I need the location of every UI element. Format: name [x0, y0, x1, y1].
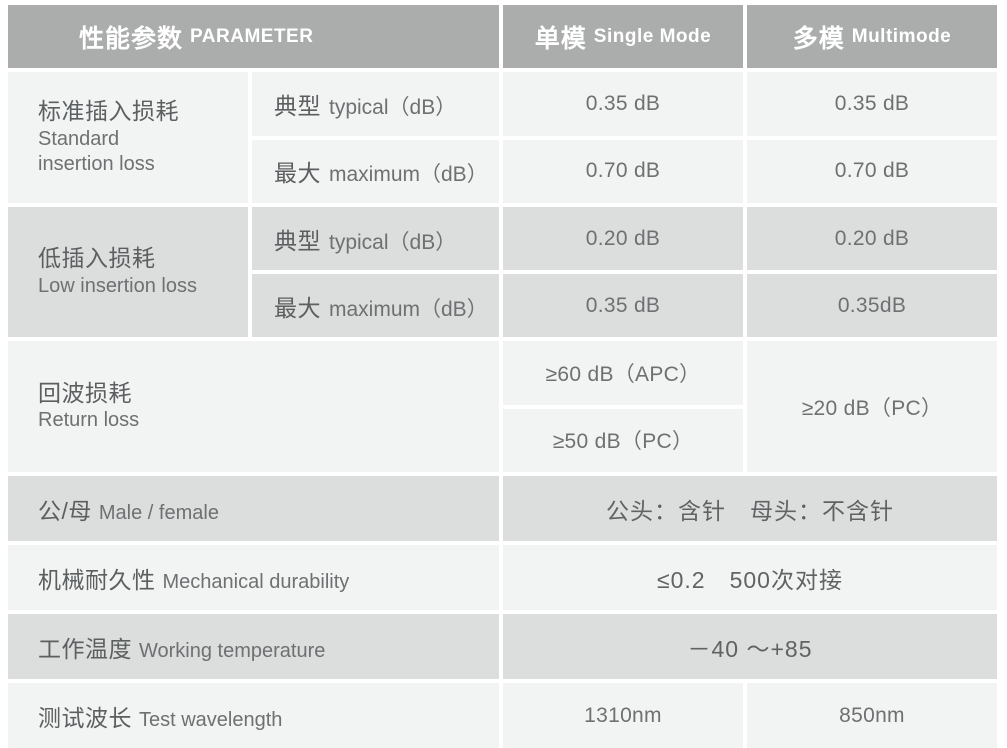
standard-maximum-single-value: 0.70 dB — [586, 159, 661, 183]
low-insertion-loss-sublabels: 典型 typical（dB） 最大 maximum（dB） — [252, 207, 499, 337]
low-typical-single-value: 0.20 dB — [586, 227, 661, 251]
header-parameter-en: PARAMETER — [190, 26, 313, 48]
table-row-return-loss: 回波损耗 Return loss ≥60 dB（APC） ≥50 dB（PC） … — [8, 341, 1001, 472]
working-temperature-label-cn: 工作温度 — [38, 630, 132, 664]
standard-maximum-cn: 最大 — [274, 154, 321, 188]
cell-low-maximum-multi: 0.35dB — [747, 274, 997, 337]
table-row-mechanical-durability: 机械耐久性 Mechanical durability ≤0.2 500次对接 — [8, 545, 1001, 610]
cell-low-typical-multi: 0.20 dB — [747, 207, 997, 270]
mechanical-durability-label-en: Mechanical durability — [163, 571, 350, 594]
standard-maximum-multi-value: 0.70 dB — [835, 159, 910, 183]
table-row-low-insertion-loss: 低插入损耗 Low insertion loss 典型 typical（dB） … — [8, 207, 1001, 337]
test-wavelength-label-cn: 测试波长 — [38, 699, 132, 733]
low-typical-cn: 典型 — [274, 222, 321, 256]
test-wavelength-multi-value: 850nm — [839, 704, 905, 728]
standard-insertion-loss-label-cn: 标准插入损耗 — [38, 97, 179, 126]
working-temperature-value: －40 ～+85 — [688, 630, 813, 664]
cell-mechanical-durability-label: 机械耐久性 Mechanical durability — [8, 545, 499, 610]
table-row-standard-insertion-loss: 标准插入损耗 Standard insertion loss 典型 typica… — [8, 72, 1001, 203]
standard-insertion-loss-label-en-1: Standard — [38, 127, 179, 153]
cell-test-wavelength-multi: 850nm — [747, 683, 997, 748]
return-loss-single-pc-value: ≥50 dB（PC） — [553, 425, 694, 455]
cell-test-wavelength-label: 测试波长 Test wavelength — [8, 683, 499, 748]
cell-working-temperature-label: 工作温度 Working temperature — [8, 614, 499, 679]
cell-mechanical-durability-value: ≤0.2 500次对接 — [503, 545, 997, 610]
male-female-value: 公头：含针 母头：不含针 — [606, 492, 894, 526]
table-grid: 性能参数 PARAMETER 单模 Single Mode 多模 Multimo… — [8, 5, 1001, 719]
return-loss-label-cn: 回波损耗 — [38, 379, 139, 408]
low-maximum-cn: 最大 — [274, 289, 321, 323]
low-maximum-en: maximum（dB） — [329, 293, 488, 323]
male-female-label-cn: 公/母 — [38, 492, 92, 526]
header-multimode-cn: 多模 — [793, 19, 845, 55]
standard-insertion-loss-label-en-2: insertion loss — [38, 152, 179, 178]
cell-test-wavelength-single: 1310nm — [503, 683, 743, 748]
cell-low-maximum-single: 0.35 dB — [503, 274, 743, 337]
table-row-male-female: 公/母 Male / female 公头：含针 母头：不含针 — [8, 476, 1001, 541]
cell-standard-typical-label: 典型 typical（dB） — [252, 72, 499, 136]
table-header-row: 性能参数 PARAMETER 单模 Single Mode 多模 Multimo… — [8, 5, 1001, 68]
header-cell-multimode: 多模 Multimode — [747, 5, 997, 68]
standard-maximum-en: maximum（dB） — [329, 158, 488, 188]
cell-standard-maximum-label: 最大 maximum（dB） — [252, 140, 499, 204]
header-cell-single-mode: 单模 Single Mode — [503, 5, 743, 68]
cell-standard-typical-single: 0.35 dB — [503, 72, 743, 136]
cell-return-loss-single-pc: ≥50 dB（PC） — [503, 409, 743, 473]
return-loss-single-apc-value: ≥60 dB（APC） — [546, 358, 701, 388]
cell-male-female-value: 公头：含针 母头：不含针 — [503, 476, 997, 541]
header-single-mode-en: Single Mode — [594, 26, 711, 48]
low-insertion-loss-label-en: Low insertion loss — [38, 274, 197, 300]
cell-standard-insertion-loss-label: 标准插入损耗 Standard insertion loss — [8, 72, 248, 203]
low-maximum-multi-value: 0.35dB — [838, 294, 906, 318]
cell-standard-typical-multi: 0.35 dB — [747, 72, 997, 136]
low-insertion-loss-single-values: 0.20 dB 0.35 dB — [503, 207, 743, 337]
mechanical-durability-label-cn: 机械耐久性 — [38, 561, 156, 595]
header-single-mode-cn: 单模 — [535, 19, 587, 55]
return-loss-single-values: ≥60 dB（APC） ≥50 dB（PC） — [503, 341, 743, 472]
specification-table: 性能参数 PARAMETER 单模 Single Mode 多模 Multimo… — [0, 0, 1007, 737]
header-parameter-cn: 性能参数 — [79, 19, 183, 55]
test-wavelength-label-en: Test wavelength — [139, 709, 282, 732]
standard-typical-en: typical（dB） — [329, 91, 456, 121]
standard-insertion-loss-multi-values: 0.35 dB 0.70 dB — [747, 72, 997, 203]
cell-return-loss-multi-pc: ≥20 dB（PC） — [747, 341, 997, 472]
standard-insertion-loss-single-values: 0.35 dB 0.70 dB — [503, 72, 743, 203]
cell-male-female-label: 公/母 Male / female — [8, 476, 499, 541]
header-multimode-en: Multimode — [852, 26, 952, 48]
cell-low-insertion-loss-label: 低插入损耗 Low insertion loss — [8, 207, 248, 337]
cell-working-temperature-value: －40 ～+85 — [503, 614, 997, 679]
cell-standard-maximum-multi: 0.70 dB — [747, 140, 997, 204]
cell-low-typical-single: 0.20 dB — [503, 207, 743, 270]
cell-low-maximum-label: 最大 maximum（dB） — [252, 274, 499, 337]
low-typical-en: typical（dB） — [329, 226, 456, 256]
table-row-working-temperature: 工作温度 Working temperature －40 ～+85 — [8, 614, 1001, 679]
standard-insertion-loss-sublabels: 典型 typical（dB） 最大 maximum（dB） — [252, 72, 499, 203]
return-loss-multi-pc-value: ≥20 dB（PC） — [802, 392, 943, 422]
test-wavelength-single-value: 1310nm — [584, 704, 662, 728]
cell-standard-maximum-single: 0.70 dB — [503, 140, 743, 204]
cell-return-loss-label: 回波损耗 Return loss — [8, 341, 499, 472]
table-row-test-wavelength: 测试波长 Test wavelength 1310nm 850nm — [8, 683, 1001, 748]
cell-return-loss-single-apc: ≥60 dB（APC） — [503, 341, 743, 405]
standard-typical-single-value: 0.35 dB — [586, 92, 661, 116]
standard-typical-cn: 典型 — [274, 87, 321, 121]
low-insertion-loss-multi-values: 0.20 dB 0.35dB — [747, 207, 997, 337]
low-maximum-single-value: 0.35 dB — [586, 294, 661, 318]
mechanical-durability-value: ≤0.2 500次对接 — [657, 561, 843, 595]
male-female-label-en: Male / female — [99, 502, 219, 525]
low-insertion-loss-label-cn: 低插入损耗 — [38, 244, 197, 273]
cell-low-typical-label: 典型 typical（dB） — [252, 207, 499, 270]
working-temperature-label-en: Working temperature — [139, 640, 325, 663]
standard-typical-multi-value: 0.35 dB — [835, 92, 910, 116]
header-cell-parameter: 性能参数 PARAMETER — [8, 5, 499, 68]
low-typical-multi-value: 0.20 dB — [835, 227, 910, 251]
return-loss-label-en: Return loss — [38, 408, 139, 434]
